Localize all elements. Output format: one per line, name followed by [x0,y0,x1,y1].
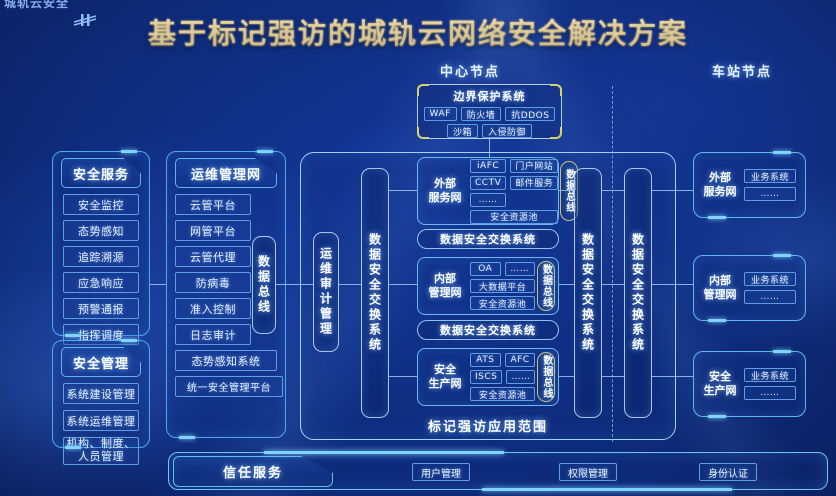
list-item[interactable]: 业务系统 [744,368,796,382]
station-app-list: 业务系统 …… [744,368,796,400]
connector-line [559,376,574,377]
list-item[interactable]: AFC [505,353,536,367]
list-item[interactable]: 门户网站 [510,159,558,173]
list-item[interactable]: 入侵防御 [482,124,532,138]
list-item[interactable]: 追踪溯源 [63,246,139,267]
list-item[interactable]: 云管平台 [175,194,251,215]
connector-line [150,284,166,285]
list-item[interactable]: …… [505,262,536,276]
border-protection-title: 边界保护系统 [418,88,561,104]
list-item[interactable]: 大数据平台 [470,279,535,293]
panel-security-service: 安全服务 安全监控 态势感知 追踪溯源 应急响应 预警通报 指挥调度 [52,151,150,336]
list-item[interactable]: …… [744,290,796,304]
zone-app-row: OA …… [470,262,535,276]
list-item[interactable]: ATS [470,353,501,367]
security-management-list: 系统建设管理 系统运维管理 机构、制度、 人员管理 [53,381,149,473]
station-name: 安全 生产网 [696,370,744,399]
ops-network-list: 云管平台 网管平台 云管代理 防病毒 准入控制 日志审计 态势感知系统 统一安全… [167,192,262,405]
data-exchange-bar: 数据安全交换系统 [417,229,559,249]
list-item[interactable]: 态势感知系统 [175,350,277,371]
connector-line [559,190,574,191]
center-node-label: 中心节点 [440,61,500,80]
connector-line [489,139,490,157]
corner-decoration [550,84,562,96]
zone-app-row: iAFC 门户网站 [470,159,558,173]
zone-app-list: ATS AFC ISCS …… 安全资源池 [468,349,537,405]
page-title: 基于标记强访的城轨云网络安全解决方案 [0,12,836,52]
list-item[interactable]: 邮件服务 [510,176,558,190]
zone-data-bus: 数据总线 [537,352,555,402]
security-resource-pool[interactable]: 安全资源池 [470,210,558,224]
corner-decoration [550,127,562,139]
connector-line [559,284,574,285]
list-item[interactable]: 机构、制度、 人员管理 [63,437,139,465]
data-exchange-column-center: 数据安全交换系统 [574,168,602,418]
trust-item-user-management[interactable]: 用户管理 [412,463,470,481]
corner-decoration [417,127,429,139]
list-item[interactable]: OA [470,262,501,276]
zone-safety-production-network: 安全 生产网 ATS AFC ISCS …… 安全资源池 数据总线 [417,348,559,406]
connector-line [389,190,417,191]
zone-app-row: 大数据平台 [470,279,535,293]
brand-logo-text: 城轨云安全 [4,0,69,11]
station-app-list: 业务系统 …… [744,169,796,201]
security-service-list: 安全监控 态势感知 追踪溯源 应急响应 预警通报 指挥调度 [53,192,149,353]
station-app-list: 业务系统 …… [744,272,796,304]
list-item[interactable]: CCTV [470,176,506,190]
zone-app-row: 安全资源池 [470,210,558,224]
list-item[interactable]: 防火墙 [461,107,502,121]
list-item[interactable]: 统一安全管理平台 [175,376,283,397]
ops-data-bus: 数据总线 [252,236,276,334]
list-item[interactable]: 安全监控 [63,194,139,215]
connector-line [602,190,624,191]
zone-name: 安全 生产网 [422,363,468,391]
zone-app-row: CCTV 邮件服务 [470,176,558,190]
list-item[interactable]: WAF [424,107,457,121]
data-exchange-bar: 数据安全交换系统 [417,320,559,340]
list-item[interactable]: 抗DDOS [505,107,555,121]
connector-line [602,376,624,377]
data-exchange-column-inner: 数据安全交换系统 [361,168,389,418]
connector-line [276,284,314,285]
station-box-external-service: 外部 服务网 业务系统 …… [693,152,806,218]
station-box-safety-production: 安全 生产网 业务系统 …… [693,351,806,417]
zone-external-service-network: 外部 服务网 iAFC 门户网站 CCTV 邮件服务 …… 安全资源池 数据总线 [417,157,559,225]
list-item[interactable]: …… [506,370,535,384]
border-protection-row-2: 沙箱 入侵防御 [418,124,561,138]
station-name: 外部 服务网 [696,171,744,200]
list-item[interactable]: 态势感知 [63,220,139,241]
zone-app-row: …… [470,193,558,207]
ops-audit-management: 运维审计管理 [313,232,339,352]
zone-app-list: OA …… 大数据平台 安全资源池 [468,258,537,314]
station-name: 内部 管理网 [696,274,744,303]
trust-item-permission-management[interactable]: 权限管理 [559,463,617,481]
list-item[interactable]: 系统运维管理 [63,410,139,431]
list-item[interactable]: 业务系统 [744,169,796,183]
corner-decoration [417,84,429,96]
list-item[interactable]: 云管代理 [175,246,251,267]
trust-item-identity-auth[interactable]: 身份认证 [699,463,757,481]
zone-internal-management-network: 内部 管理网 OA …… 大数据平台 安全资源池 数据总线 [417,257,559,315]
list-item[interactable]: 防病毒 [175,272,251,293]
ops-network-header: 运维管理网 [175,158,277,188]
list-item[interactable]: 系统建设管理 [63,383,139,404]
connector-line [389,376,417,377]
connector-line [652,376,693,377]
border-protection-row-1: WAF 防火墙 抗DDOS [418,107,561,121]
list-item[interactable]: 沙箱 [447,124,478,138]
zone-app-row: 安全资源池 [470,387,535,401]
zone-app-row: ISCS …… [470,370,535,384]
security-resource-pool[interactable]: 安全资源池 [470,296,535,310]
list-item[interactable]: 日志审计 [175,324,251,345]
data-exchange-column-station: 数据安全交换系统 [624,168,652,418]
connector-line [339,284,361,285]
list-item[interactable]: …… [744,386,796,400]
security-service-header: 安全服务 [61,158,141,188]
list-item[interactable]: 业务系统 [744,272,796,286]
zone-app-list: iAFC 门户网站 CCTV 邮件服务 …… 安全资源池 [468,155,560,228]
zone-data-bus: 数据总线 [537,261,555,311]
connector-line [389,284,417,285]
connector-line [652,190,693,191]
station-box-internal-management: 内部 管理网 业务系统 …… [693,255,806,321]
list-item[interactable]: 准入控制 [175,298,251,319]
station-node-label: 车站节点 [712,61,772,80]
node-separator [612,86,613,442]
list-item[interactable]: ISCS [470,370,502,384]
zone-app-row: ATS AFC [470,353,535,367]
list-item[interactable]: …… [744,187,796,201]
panel-security-management: 安全管理 系统建设管理 系统运维管理 机构、制度、 人员管理 [52,340,150,448]
list-item[interactable]: …… [470,193,506,207]
list-item[interactable]: 预警通报 [63,298,139,319]
trust-service-header: 信任服务 [173,456,333,487]
connector-line [602,284,624,285]
list-item[interactable]: iAFC [470,159,506,173]
zone-name: 外部 服务网 [422,177,468,205]
trust-service-bar: 信任服务 用户管理 权限管理 身份认证 [168,452,828,490]
connector-line [652,284,693,285]
list-item[interactable]: 网管平台 [175,220,251,241]
security-resource-pool[interactable]: 安全资源池 [470,387,535,401]
scope-label: 标记强访应用范围 [301,416,675,435]
security-management-header: 安全管理 [61,347,141,377]
border-protection-system: 边界保护系统 WAF 防火墙 抗DDOS 沙箱 入侵防御 [417,84,562,139]
zone-name: 内部 管理网 [422,272,468,300]
list-item[interactable]: 应急响应 [63,272,139,293]
zone-app-row: 安全资源池 [470,296,535,310]
